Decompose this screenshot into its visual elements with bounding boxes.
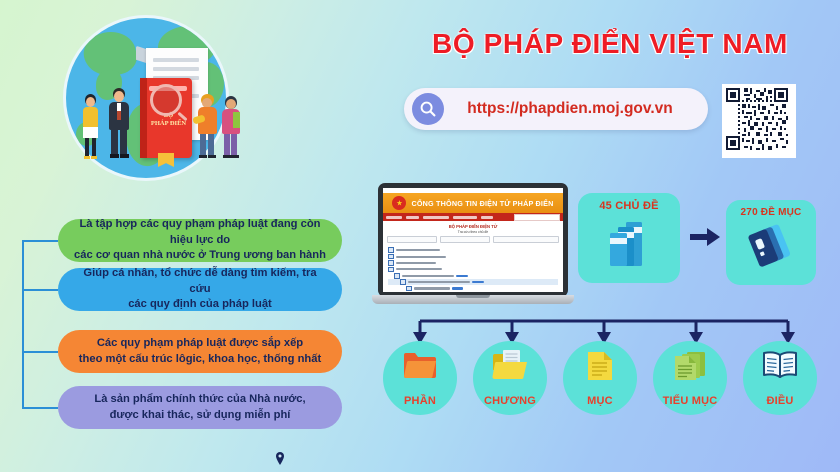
site-title: CỔNG THÔNG TIN ĐIỆN TỬ PHÁP ĐIỂN [411,199,553,208]
features-bracket-arm-1 [22,240,58,242]
feature-2-line-2: các quy định của pháp luật [128,298,272,310]
yellow-folder-document-icon [491,350,529,380]
location-pin-icon [275,452,285,465]
stat-subjects[interactable]: 270 ĐỀ MỤC [726,200,816,285]
site-header: CỔNG THÔNG TIN ĐIỆN TỬ PHÁP ĐIỂN [383,193,563,213]
category-chuong[interactable]: CHƯƠNG [473,341,547,415]
magnifier-icon [150,84,182,116]
feature-2-line-1: Giúp cá nhân, tổ chức dễ dàng tìm kiếm, … [83,267,316,295]
open-book-icon [761,350,799,380]
category-tieumuc[interactable]: TIỂU MỤC [653,341,727,415]
category-phan-label: PHẦN [383,395,457,407]
feature-4-line-2: được khai thác, sử dụng miễn phí [110,409,291,421]
category-chuong-label: CHƯƠNG [473,395,547,407]
features-bracket-arm-3 [22,351,58,353]
features-bracket-arm-4 [22,407,58,409]
site-search-box[interactable] [514,214,560,221]
green-documents-icon [673,350,707,382]
book-title-line2: PHÁP ĐIỂN [151,120,186,127]
yellow-document-icon [585,350,615,382]
site-page-heading: BỘ PHÁP ĐIỂN ĐIỆN TỬ [383,221,563,230]
feature-box-1[interactable]: Là tập hợp các quy phạm pháp luật đang c… [58,219,342,262]
feature-box-4[interactable]: Là sản phẩm chính thức của Nhà nước, đượ… [58,386,342,429]
features-bracket [22,240,60,408]
category-dieu[interactable]: ĐIỀU [743,341,817,415]
feature-1-line-2: các cơ quan nhà nước ở Trung ương ban hà… [74,249,326,261]
qr-code[interactable] [722,84,796,158]
features-bracket-arm-2 [22,289,58,291]
feature-1-line-1: Là tập hợp các quy phạm pháp luật đang c… [79,218,320,246]
category-muc[interactable]: MỤC [563,341,637,415]
stat-topics-label: 45 CHỦ ĐỀ [599,200,658,212]
arrow-right-icon [690,228,720,246]
site-filter-row[interactable] [383,236,563,246]
feature-box-2[interactable]: Giúp cá nhân, tổ chức dễ dàng tìm kiếm, … [58,268,342,311]
laptop-mockup: CỔNG THÔNG TIN ĐIỆN TỬ PHÁP ĐIỂN BỘ PHÁP… [372,183,574,308]
globe-illustration: BỘ PHÁP ĐIỂN [58,18,268,178]
category-dieu-label: ĐIỀU [743,395,817,407]
feature-3-line-2: theo một cấu trúc lôgic, khoa học, thống… [79,353,321,365]
infographic-canvas: BỘ PHÁP ĐIỂN [0,0,840,472]
category-phan[interactable]: PHẦN [383,341,457,415]
search-icon [412,93,444,125]
cards-stack-icon [744,219,798,273]
category-tieumuc-label: TIỂU MỤC [653,395,727,407]
site-topic-tree[interactable] [383,246,563,292]
orange-folder-icon [402,350,438,380]
feature-3-line-1: Các quy phạm pháp luật được sắp xếp [97,337,303,349]
person-woman-yellow [80,94,102,160]
laptop-lid: CỔNG THÔNG TIN ĐIỆN TỬ PHÁP ĐIỂN BỘ PHÁP… [378,183,568,297]
website-url-text: https://phapdien.moj.gov.vn [444,100,708,118]
person-orange-jacket [196,94,220,162]
person-woman-pink [220,96,244,162]
feature-4-line-1: Là sản phẩm chính thức của Nhà nước, [94,393,305,405]
person-man-suit [106,88,132,162]
category-muc-label: MỤC [563,395,637,407]
national-emblem-icon [392,196,406,210]
laptop-base [372,295,574,304]
website-screenshot[interactable]: CỔNG THÔNG TIN ĐIỆN TỬ PHÁP ĐIỂN BỘ PHÁP… [383,188,563,292]
website-url-bar[interactable]: https://phapdien.moj.gov.vn [404,88,708,130]
site-nav-bar[interactable] [383,213,563,221]
feature-box-3[interactable]: Các quy phạm pháp luật được sắp xếp theo… [58,330,342,373]
page-title: BỘ PHÁP ĐIỂN VIỆT NAM [400,28,820,60]
books-stack-icon [600,214,658,272]
stat-topics[interactable]: 45 CHỦ ĐỀ [578,193,680,283]
stat-subjects-label: 270 ĐỀ MỤC [741,207,802,218]
